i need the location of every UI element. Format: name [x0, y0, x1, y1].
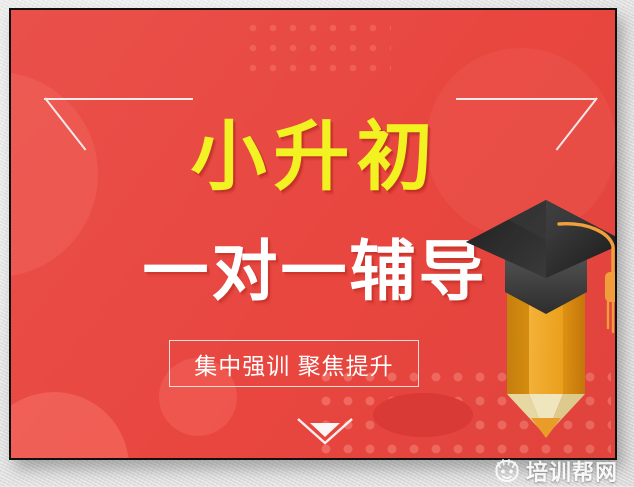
bracket-line-left-horizontal — [44, 98, 193, 100]
headline-primary: 小升初 — [11, 120, 615, 196]
watermark: 培训帮网 — [494, 455, 618, 486]
smiley-sun-icon — [494, 459, 520, 483]
poster-frame: 小升初 一对一辅导 集中强训 聚焦提升 — [9, 8, 617, 460]
poster-canvas: 小升初 一对一辅导 集中强训 聚焦提升 — [11, 10, 615, 458]
pencil-ground-shadow — [373, 393, 473, 437]
chevron-down-icon — [295, 413, 355, 447]
mortarboard — [466, 200, 615, 278]
page-background: 小升初 一对一辅导 集中强训 聚焦提升 — [0, 0, 634, 486]
subtitle-box: 集中强训 聚焦提升 — [169, 340, 419, 387]
watermark-text: 培训帮网 — [526, 455, 618, 487]
pencil-tip — [531, 418, 561, 438]
decor-circle-bottom-left — [11, 392, 129, 458]
subtitle-text: 集中强训 聚焦提升 — [194, 347, 393, 381]
graduation-cap-pencil-illustration — [463, 196, 615, 440]
dot-grid-top-right — [249, 24, 391, 72]
bracket-line-right-horizontal — [456, 98, 597, 100]
